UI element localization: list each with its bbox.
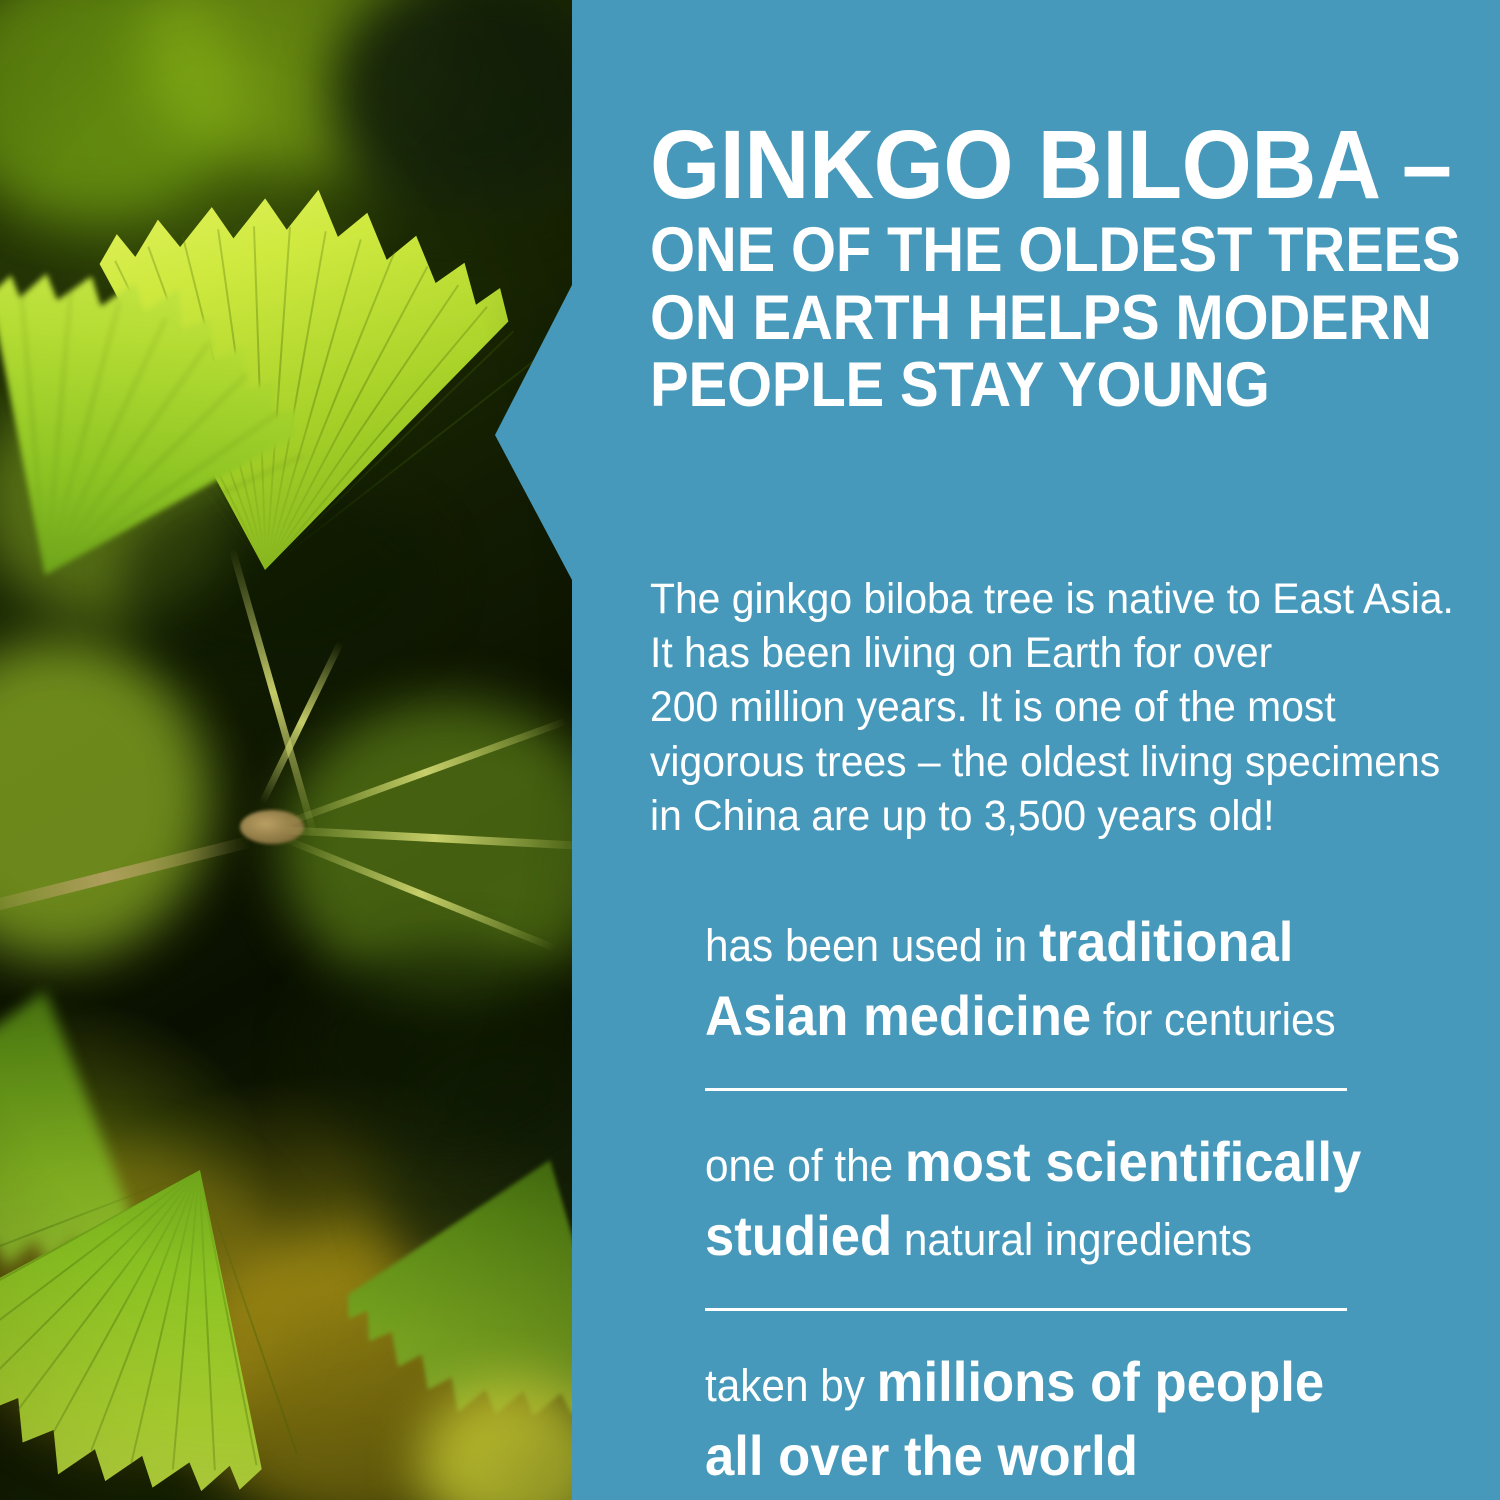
body-line: The ginkgo biloba tree is native to East… <box>650 572 1401 626</box>
fact-item-millions-worldwide: taken by millions of people all over the… <box>705 1345 1363 1494</box>
headline-block: GINKGO BILOBA – ONE OF THE OLDEST TREES … <box>650 118 1450 419</box>
subtitle-line: ON EARTH HELPS MODERN <box>650 285 1386 352</box>
fact-text-light: for centuries <box>1091 994 1336 1045</box>
fact-text-light: natural ingredients <box>892 1214 1252 1265</box>
facts-list: has been used in traditional Asian medic… <box>705 905 1405 1494</box>
ginkgo-leaves-photo <box>0 0 572 1500</box>
body-line: It has been living on Earth for over <box>650 626 1401 680</box>
page-title: GINKGO BILOBA – <box>650 118 1394 211</box>
infographic-poster: GINKGO BILOBA – ONE OF THE OLDEST TREES … <box>0 0 1500 1500</box>
page-subtitle: ONE OF THE OLDEST TREES ON EARTH HELPS M… <box>650 217 1386 419</box>
body-paragraph: The ginkgo biloba tree is native to East… <box>650 572 1401 843</box>
body-line: vigorous trees – the oldest living speci… <box>650 735 1401 789</box>
fact-text-light: taken by <box>705 1360 877 1411</box>
fact-item-scientifically-studied: one of the most scientifically studied n… <box>705 1125 1363 1274</box>
body-line: 200 million years. It is one of the most <box>650 680 1401 734</box>
fact-text-light: one of the <box>705 1140 905 1191</box>
body-line: in China are up to 3,500 years old! <box>650 789 1401 843</box>
bokeh-blob <box>0 640 210 960</box>
subtitle-line: PEOPLE STAY YOUNG <box>650 352 1386 419</box>
fact-item-traditional-medicine: has been used in traditional Asian medic… <box>705 905 1363 1054</box>
fact-text-light: has been used in <box>705 920 1039 971</box>
text-content-area: GINKGO BILOBA – ONE OF THE OLDEST TREES … <box>572 0 1500 1500</box>
subtitle-line: ONE OF THE OLDEST TREES <box>650 217 1386 284</box>
fact-divider <box>705 1088 1347 1091</box>
fact-divider <box>705 1308 1347 1311</box>
photo-background-blur <box>0 0 572 1500</box>
